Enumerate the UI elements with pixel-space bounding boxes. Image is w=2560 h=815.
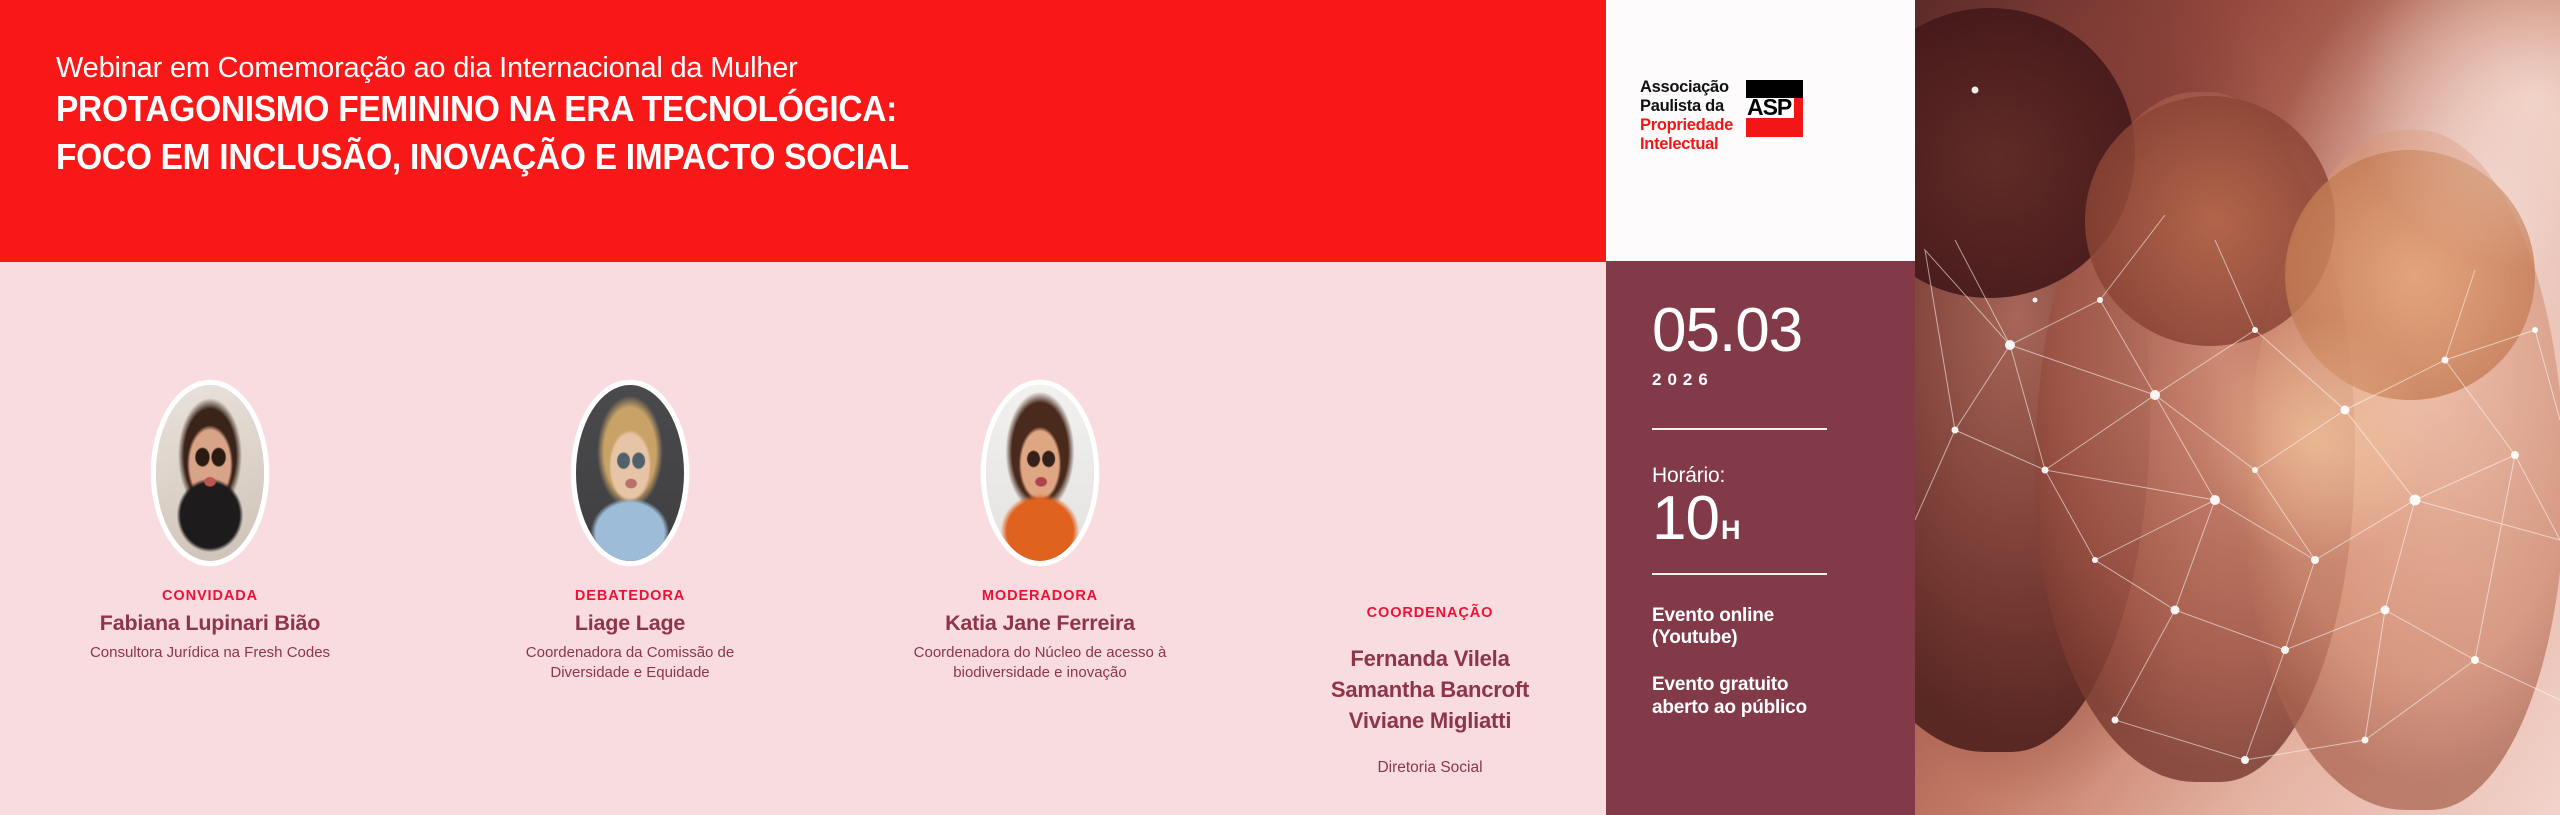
- speaker-description-line-2: biodiversidade e inovação: [865, 663, 1215, 683]
- event-title-line-1: PROTAGONISMO FEMININO NA ERA TECNOLÓGICA…: [56, 85, 1451, 133]
- speaker-name: Liage Lage: [455, 611, 805, 636]
- aspi-mark-bottom-band: [1746, 118, 1803, 137]
- avatar: [571, 380, 689, 566]
- coordination-block: COORDENAÇÃO Fernanda Vilela Samantha Ban…: [1270, 605, 1590, 777]
- coordination-label: COORDENAÇÃO: [1270, 605, 1590, 621]
- logo-and-event-column: Associação Paulista da Propriedade Intel…: [1606, 0, 1915, 815]
- header-band: Webinar em Comemoração ao dia Internacio…: [0, 0, 1606, 262]
- aspi-mark-accent-bar: [1794, 98, 1803, 118]
- aspi-mark-icon: ASP: [1746, 80, 1803, 137]
- event-date: 05.03: [1652, 301, 1872, 361]
- event-access-info: Evento gratuito aberto ao público: [1652, 674, 1872, 720]
- avatar: [151, 380, 269, 566]
- divider-rule: [1652, 428, 1827, 430]
- logo-line-1: Associação: [1640, 78, 1733, 97]
- coordination-name: Fernanda Vilela: [1270, 643, 1590, 674]
- speaker-card: DEBATEDORA Liage Lage Coordenadora da Co…: [455, 380, 805, 683]
- event-details-inner: 05.03 2026 Horário: 10 H Evento online (…: [1652, 301, 1872, 720]
- logo-line-2: Paulista da: [1640, 97, 1733, 116]
- event-access-line-1: Evento gratuito: [1652, 674, 1872, 697]
- event-format-line-1: Evento online: [1652, 605, 1872, 628]
- logo-line-4: Intelectual: [1640, 135, 1733, 154]
- hero-image: [1915, 0, 2560, 815]
- time-value: 10: [1652, 486, 1719, 551]
- header-text-group: Webinar em Comemoração ao dia Internacio…: [56, 52, 1556, 181]
- aspi-mark-letters: ASP: [1747, 96, 1791, 118]
- portrait-katia-photo: [986, 385, 1094, 561]
- logo-wordmark: Associação Paulista da Propriedade Intel…: [1640, 78, 1733, 155]
- event-format-line-2: (Youtube): [1652, 627, 1872, 650]
- event-details-panel: 05.03 2026 Horário: 10 H Evento online (…: [1606, 261, 1915, 815]
- event-format-info: Evento online (Youtube): [1652, 605, 1872, 651]
- speaker-card: MODERADORA Katia Jane Ferreira Coordenad…: [865, 380, 1215, 683]
- speaker-description-line-2: Diversidade e Equidade: [455, 663, 805, 683]
- divider-rule: [1652, 573, 1827, 575]
- speaker-description-line-1: Consultora Jurídica na Fresh Codes: [35, 643, 385, 663]
- logo-panel: Associação Paulista da Propriedade Intel…: [1606, 0, 1915, 261]
- portrait-liage-photo: [576, 385, 684, 561]
- event-eyebrow: Webinar em Comemoração ao dia Internacio…: [56, 52, 1556, 85]
- coordination-subtitle: Diretoria Social: [1270, 759, 1590, 777]
- speaker-name: Katia Jane Ferreira: [865, 611, 1215, 636]
- time-value-row: 10 H: [1652, 486, 1872, 551]
- coordination-name: Viviane Migliatti: [1270, 705, 1590, 736]
- speaker-description-line-1: Coordenadora do Núcleo de acesso à: [865, 643, 1215, 663]
- avatar: [981, 380, 1099, 566]
- speaker-role-badge: CONVIDADA: [35, 588, 385, 604]
- logo-line-3: Propriedade: [1640, 116, 1733, 135]
- time-unit: H: [1721, 515, 1741, 546]
- aspi-logo: Associação Paulista da Propriedade Intel…: [1640, 78, 1803, 155]
- speaker-description-line-1: Coordenadora da Comissão de: [455, 643, 805, 663]
- network-overlay-icon: [1915, 0, 2560, 815]
- speaker-card: CONVIDADA Fabiana Lupinari Bião Consulto…: [35, 380, 385, 663]
- coordination-name: Samantha Bancroft: [1270, 674, 1590, 705]
- event-title-line-2: FOCO EM INCLUSÃO, INOVAÇÃO E IMPACTO SOC…: [56, 133, 1451, 181]
- speaker-role-badge: MODERADORA: [865, 588, 1215, 604]
- coordination-name-list: Fernanda Vilela Samantha Bancroft Vivian…: [1270, 643, 1590, 737]
- aspi-mark-middle-band: ASP: [1746, 98, 1803, 118]
- speakers-row: CONVIDADA Fabiana Lupinari Bião Consulto…: [0, 262, 1290, 815]
- speaker-role-badge: DEBATEDORA: [455, 588, 805, 604]
- portrait-fabiana-photo: [156, 385, 264, 561]
- speakers-section: CONVIDADA Fabiana Lupinari Bião Consulto…: [0, 262, 1606, 815]
- event-access-line-2: aberto ao público: [1652, 697, 1872, 720]
- speaker-name: Fabiana Lupinari Bião: [35, 611, 385, 636]
- event-year: 2026: [1652, 370, 1872, 390]
- left-content-column: Webinar em Comemoração ao dia Internacio…: [0, 0, 1606, 815]
